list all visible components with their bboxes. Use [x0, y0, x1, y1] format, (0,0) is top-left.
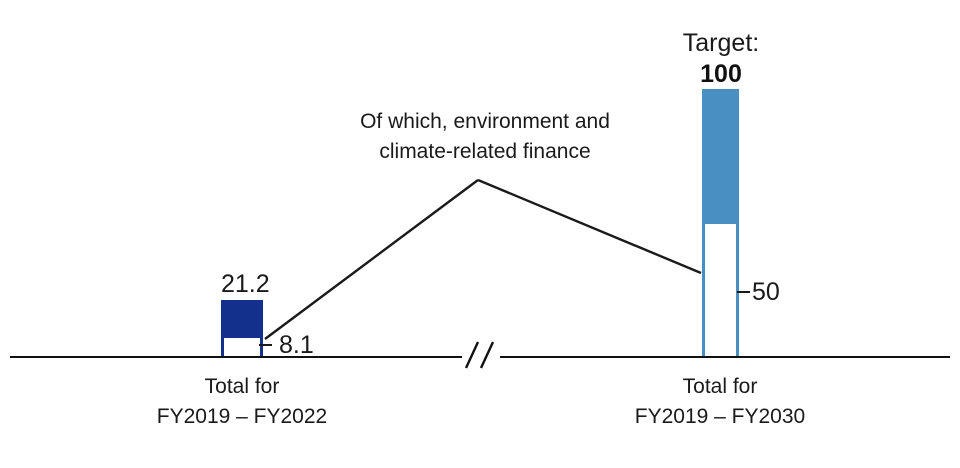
- left-bar-total-label: 21.2: [221, 270, 263, 299]
- left-subset-tick: [259, 344, 272, 346]
- target-word: Target:: [640, 28, 802, 59]
- leader-line-right: [478, 180, 701, 273]
- left-bar-total-segment: [221, 300, 263, 338]
- right-bar-total-segment: [702, 89, 739, 224]
- category-left-line-2: FY2019 – FY2022: [142, 402, 342, 432]
- category-label-right: Total for FY2019 – FY2030: [620, 372, 820, 432]
- right-subset-tick: [737, 291, 750, 293]
- right-bar-subset-segment: [702, 224, 739, 357]
- annotation-line-2: climate-related finance: [305, 137, 665, 167]
- right-bar-subset-label: 50: [752, 278, 780, 307]
- annotation-line-1: Of which, environment and: [305, 107, 665, 137]
- axis-break-icon: [462, 338, 500, 372]
- target-value: 100: [640, 59, 802, 90]
- leader-line-left: [265, 180, 478, 339]
- annotation-text: Of which, environment and climate-relate…: [305, 107, 665, 167]
- category-label-left: Total for FY2019 – FY2022: [142, 372, 342, 432]
- category-right-line-2: FY2019 – FY2030: [620, 402, 820, 432]
- chart-canvas: Of which, environment and climate-relate…: [0, 0, 960, 468]
- category-right-line-1: Total for: [620, 372, 820, 402]
- left-bar-subset-segment: [221, 338, 263, 357]
- category-left-line-1: Total for: [142, 372, 342, 402]
- right-bar-target-label: Target: 100: [640, 28, 802, 89]
